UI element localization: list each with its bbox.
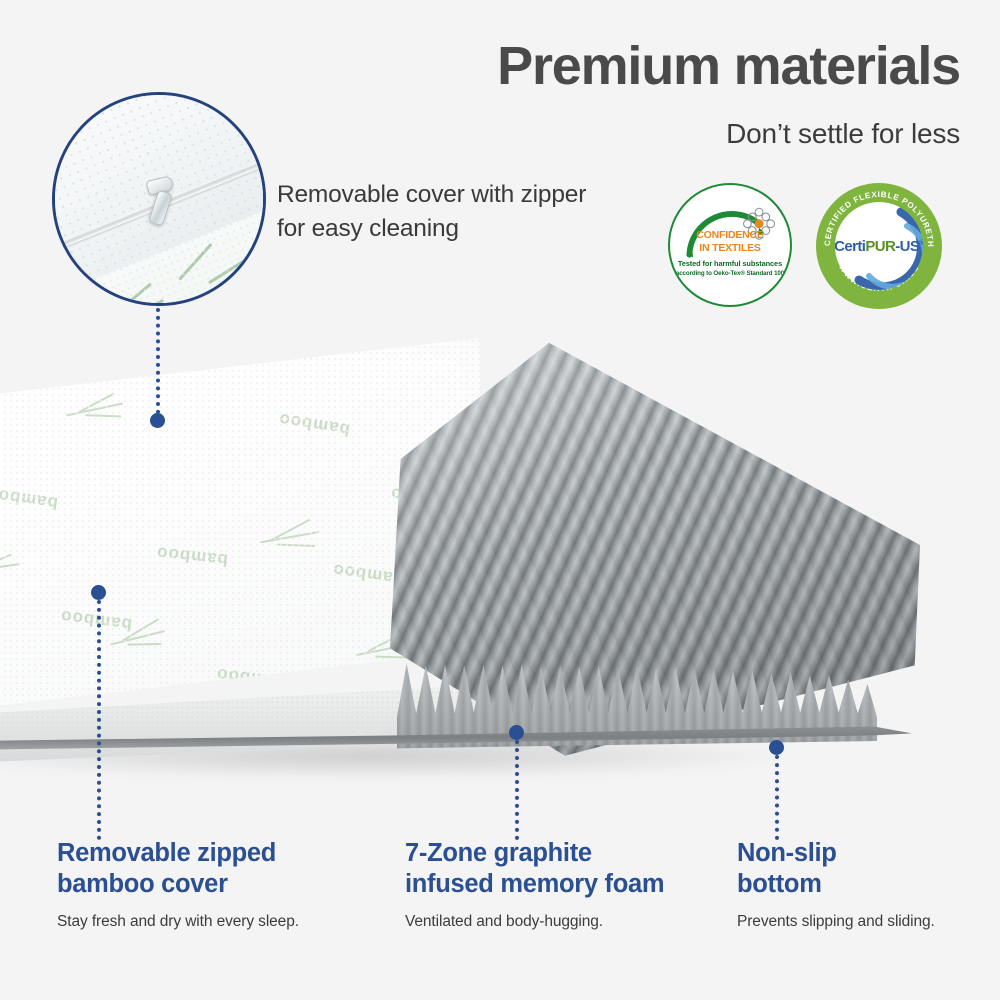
certipur-wordmark: CertiPUR-US® — [835, 238, 923, 255]
page-subtitle: Don’t settle for less — [726, 118, 960, 150]
bamboo-leaf-icon — [108, 619, 174, 659]
certipur-word-pur: PUR — [865, 238, 895, 255]
connector-dot-non-slip — [769, 740, 784, 755]
oeko-line-4: according to Oeko-Tex® Standard 100 — [676, 270, 784, 277]
connector-line-zipper — [156, 308, 160, 414]
feature-description: Ventilated and body-hugging. — [405, 913, 735, 931]
zipper-detail-inset — [52, 92, 266, 306]
bamboo-print-word: bamboo — [155, 542, 229, 569]
bamboo-print-word: bamboo — [277, 408, 351, 439]
bamboo-leaf-icon — [241, 260, 266, 289]
connector-line-bamboo-cover — [97, 600, 101, 840]
connector-line-memory-foam — [515, 740, 519, 840]
bamboo-print-word: bamboo — [0, 483, 59, 513]
certification-badges: CONFIDENCE IN TEXTILES Tested for harmfu… — [668, 183, 968, 307]
connector-dot-memory-foam — [509, 725, 524, 740]
feature-list: Removable zipped bamboo cover Stay fresh… — [0, 838, 1000, 968]
bamboo-print-word: bamboo — [215, 664, 289, 693]
oeko-line-3: Tested for harmful substances — [678, 259, 782, 268]
bamboo-leaf-icon — [208, 252, 255, 283]
bamboo-leaf-icon — [0, 552, 32, 586]
bamboo-leaf-icon — [64, 392, 130, 430]
feature-title: Removable zipped bamboo cover — [57, 838, 377, 900]
zipper-callout-line-1: Removable cover with zipper — [277, 178, 586, 212]
bamboo-leaf-icon — [258, 521, 324, 557]
feature-title-line-1: 7-Zone graphite — [405, 838, 735, 869]
connector-dot-zipper — [150, 413, 165, 428]
feature-title: Non-slip bottom — [737, 838, 987, 900]
certipur-word-certi: Certi — [835, 238, 865, 255]
feature-title-line-1: Non-slip — [737, 838, 987, 869]
feature-item-non-slip: Non-slip bottom Prevents slipping and sl… — [737, 838, 987, 931]
bamboo-leaf-icon — [178, 243, 212, 281]
certipur-badge: CONTAINS CERTIFIED FLEXIBLE POLYURETHANE… — [816, 183, 942, 309]
certipur-word-us: -US — [895, 238, 919, 255]
feature-item-memory-foam: 7-Zone graphite infused memory foam Vent… — [405, 838, 735, 931]
certipur-inner-disc: CertiPUR-US® — [835, 202, 923, 290]
feature-title-line-2: infused memory foam — [405, 869, 735, 900]
feature-title-line-1: Removable zipped — [57, 838, 377, 869]
feature-title-line-2: bamboo cover — [57, 869, 377, 900]
connector-line-non-slip — [775, 755, 779, 840]
zipper-callout-line-2: for easy cleaning — [277, 212, 586, 246]
bamboo-leaf-icon — [109, 282, 152, 306]
feature-description: Stay fresh and dry with every sleep. — [57, 913, 377, 931]
oeko-line-1: CONFIDENCE — [696, 229, 763, 241]
zipper-callout-text: Removable cover with zipper for easy cle… — [277, 178, 586, 246]
oeko-line-2: IN TEXTILES — [699, 242, 760, 254]
promo-canvas: Premium materials Don’t settle for less … — [0, 0, 1000, 1000]
product-image: bamboo bamboo bamboo bamboo bamboo bambo… — [0, 330, 960, 800]
feature-title: 7-Zone graphite infused memory foam — [405, 838, 735, 900]
connector-dot-bamboo-cover — [91, 585, 106, 600]
feature-item-bamboo-cover: Removable zipped bamboo cover Stay fresh… — [57, 838, 377, 931]
feature-title-line-2: bottom — [737, 869, 987, 900]
certipur-registered-mark: ® — [919, 240, 923, 247]
page-title: Premium materials — [497, 38, 960, 95]
oeko-tex-badge: CONFIDENCE IN TEXTILES Tested for harmfu… — [668, 183, 792, 307]
bamboo-leaf-icon — [124, 298, 164, 306]
feature-description: Prevents slipping and sliding. — [737, 913, 987, 931]
